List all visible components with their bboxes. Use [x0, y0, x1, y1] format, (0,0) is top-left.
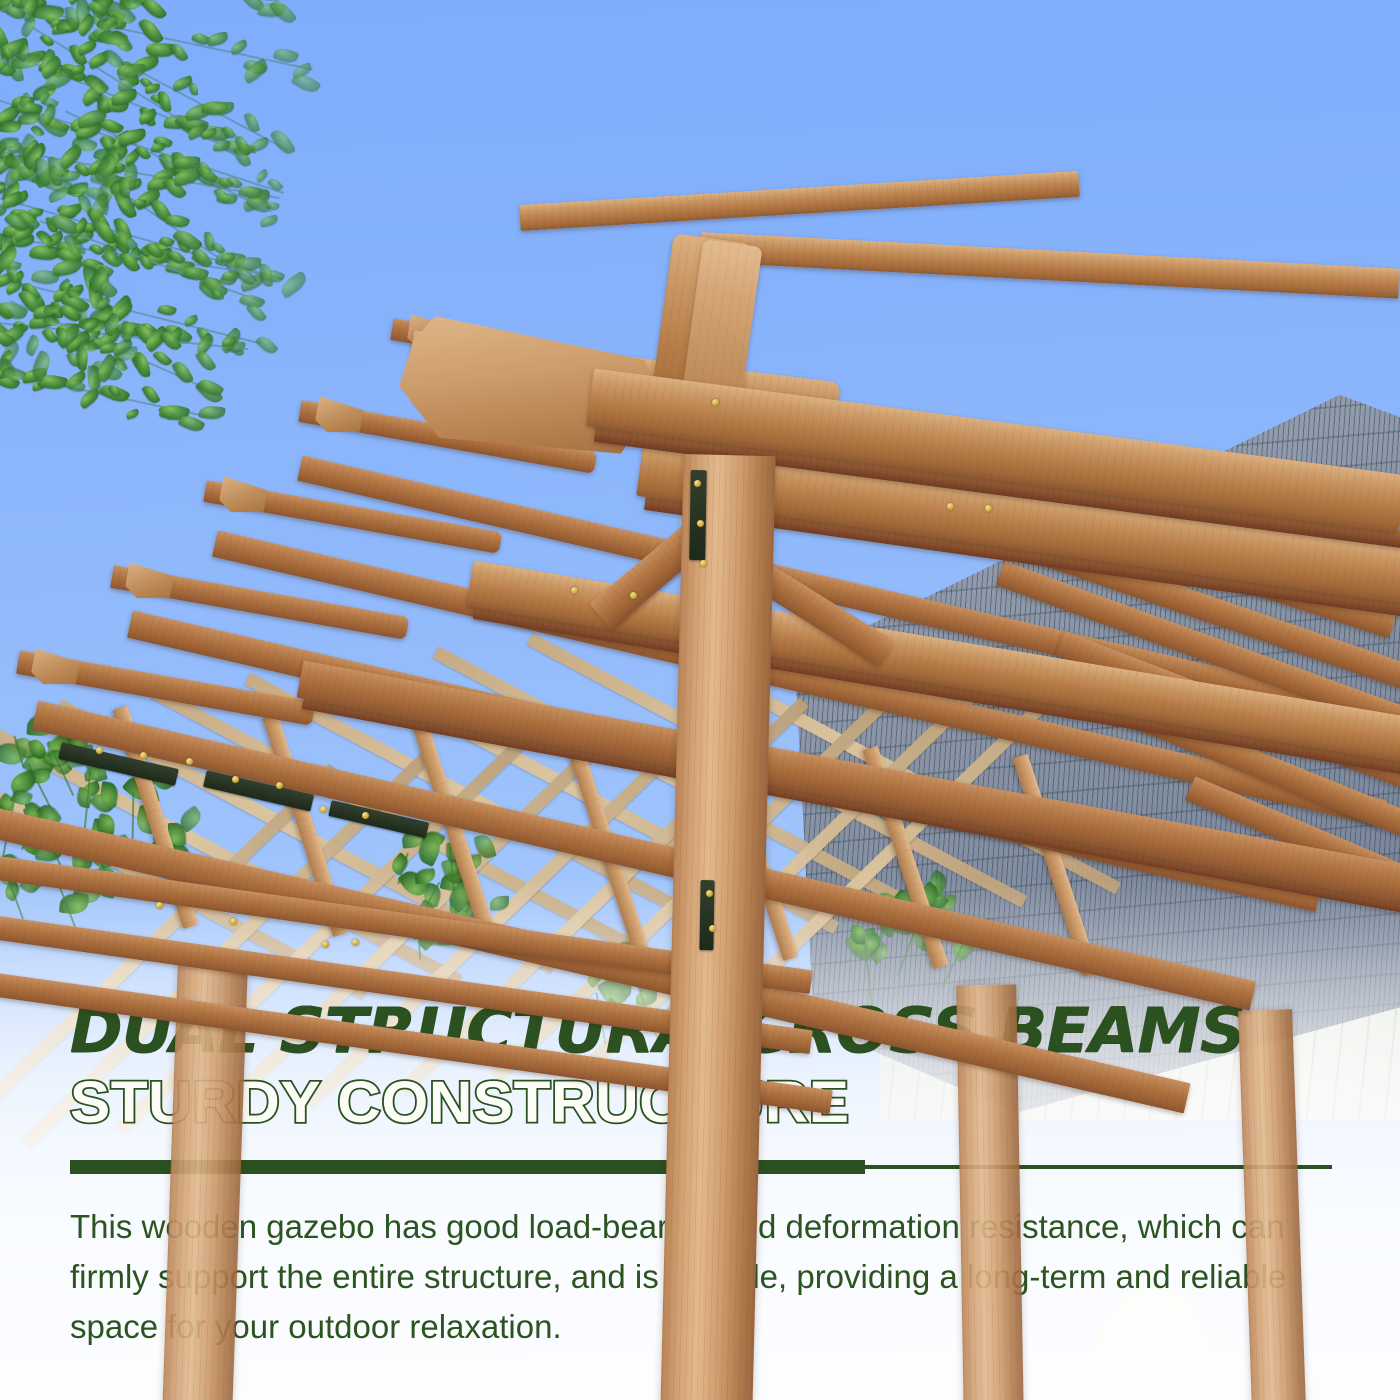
brass-screw — [186, 758, 193, 765]
brass-screw — [694, 480, 701, 487]
tree-leaf — [39, 32, 54, 48]
tree-leaf — [189, 82, 199, 96]
tree-leaf — [249, 136, 271, 152]
tree-foliage — [0, 0, 370, 410]
tree-leaf — [195, 349, 217, 374]
brass-screw — [96, 747, 103, 754]
tree-leaf — [212, 0, 238, 3]
brass-screw — [700, 560, 707, 567]
brass-screw — [140, 752, 147, 759]
tree-leaf — [244, 111, 261, 134]
tree-leaf — [0, 120, 21, 134]
tree-leaf — [259, 214, 278, 227]
tree-leaf — [138, 15, 165, 46]
brass-screw — [709, 925, 716, 932]
tree-leaf — [158, 90, 172, 113]
brass-screw — [232, 776, 239, 783]
brass-screw — [156, 902, 163, 909]
brass-screw — [630, 592, 637, 599]
tree-leaf — [206, 32, 229, 47]
brass-screw — [712, 399, 719, 406]
brass-screw — [985, 505, 992, 512]
brass-screw — [276, 782, 283, 789]
brass-screw — [362, 812, 369, 819]
brass-screw — [230, 918, 237, 925]
tree-leaf — [157, 302, 177, 317]
tree-leaf — [267, 176, 284, 193]
brass-screw — [697, 520, 704, 527]
brass-screw — [571, 587, 578, 594]
brass-screw — [706, 890, 713, 897]
tree-leaf — [63, 171, 80, 181]
tree-leaf — [189, 0, 211, 2]
tree-leaf — [151, 143, 165, 152]
brass-screw — [352, 939, 359, 946]
product-feature-banner: DUAL STRUCTURALCROSS BEAMS STURDY CONSTR… — [0, 0, 1400, 1400]
tree-leaf — [0, 85, 1, 99]
tree-leaf — [76, 39, 98, 56]
brass-screw — [320, 806, 327, 813]
tree-leaf — [208, 101, 234, 115]
tree-leaf — [210, 0, 231, 1]
tree-leaf — [170, 41, 190, 64]
brass-screw — [947, 503, 954, 510]
tree-leaf — [255, 333, 279, 357]
brass-screw — [322, 941, 329, 948]
